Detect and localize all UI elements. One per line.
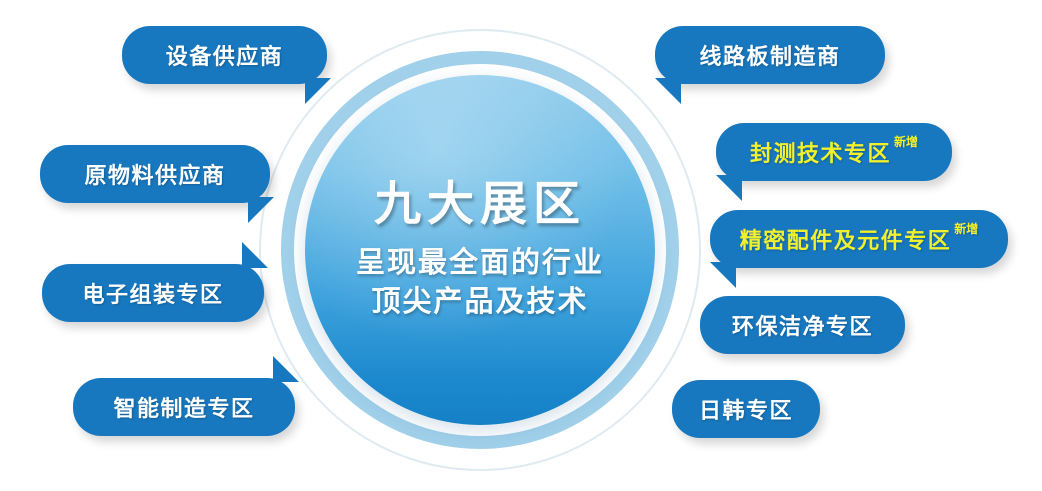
bubble-tail-icon — [242, 242, 268, 268]
new-badge: 新增 — [894, 133, 918, 150]
bubble-label: 精密配件及元件专区 — [740, 223, 952, 255]
bubble-tail-icon — [716, 175, 742, 201]
center-text-block: 九大展区 呈现最全面的行业 顶尖产品及技术 — [305, 75, 655, 425]
bubble-label: 设备供应商 — [166, 39, 284, 71]
bubble-raw-material-supplier[interactable]: 原物料供应商 — [40, 145, 270, 203]
bubble-electronic-assembly-zone[interactable]: 电子组装专区 — [42, 264, 264, 322]
bubble-label: 日韩专区 — [699, 393, 793, 425]
bubble-pcb-manufacturer[interactable]: 线路板制造商 — [655, 26, 885, 84]
bubble-tail-icon — [305, 78, 331, 104]
bubble-label: 封测技术专区 — [750, 136, 891, 168]
bubble-japan-korea-zone[interactable]: 日韩专区 — [672, 380, 820, 438]
bubble-tail-icon — [672, 380, 698, 406]
center-subtitle-line-1: 呈现最全面的行业 — [356, 244, 604, 283]
bubble-label: 电子组装专区 — [82, 277, 223, 309]
infographic-canvas: 九大展区 呈现最全面的行业 顶尖产品及技术 设备供应商 原物料供应商 电子组装专… — [0, 0, 1042, 491]
page-title: 九大展区 — [374, 178, 586, 230]
bubble-eco-cleanroom-zone[interactable]: 环保洁净专区 — [700, 296, 905, 354]
bubble-tail-icon — [248, 197, 274, 223]
center-subtitle-line-2: 顶尖产品及技术 — [371, 283, 588, 322]
bubble-label: 智能制造专区 — [113, 391, 254, 423]
bubble-tail-icon — [273, 356, 299, 382]
bubble-precision-components-zone[interactable]: 精密配件及元件专区 新增 — [710, 210, 1008, 268]
bubble-packaging-testing-zone[interactable]: 封测技术专区 新增 — [716, 123, 952, 181]
bubble-label: 线路板制造商 — [699, 39, 840, 71]
bubble-tail-icon — [700, 296, 726, 322]
bubble-smart-manufacturing-zone[interactable]: 智能制造专区 — [73, 378, 295, 436]
bubble-label: 原物料供应商 — [84, 158, 225, 190]
new-badge: 新增 — [954, 220, 978, 237]
bubble-equipment-supplier[interactable]: 设备供应商 — [122, 26, 327, 84]
bubble-tail-icon — [655, 78, 681, 104]
bubble-tail-icon — [710, 262, 736, 288]
bubble-label: 环保洁净专区 — [732, 309, 873, 341]
